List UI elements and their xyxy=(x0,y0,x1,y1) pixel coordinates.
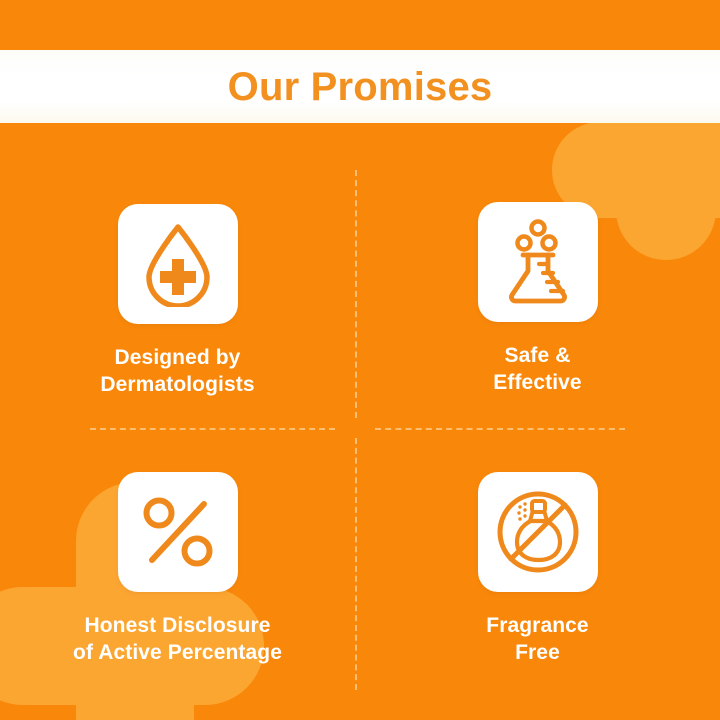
icon-card xyxy=(478,202,598,322)
promise-label: Honest Disclosure of Active Percentage xyxy=(73,612,282,667)
promise-item-safe-and-effective: Safe & Effective xyxy=(355,140,720,428)
icon-card xyxy=(118,204,238,324)
promise-grid: Designed by Dermatologists xyxy=(0,140,720,710)
title-band: Our Promises xyxy=(0,50,720,123)
no-fragrance-bottle-icon xyxy=(496,490,580,574)
flask-icon xyxy=(501,219,575,305)
promise-label: Fragrance Free xyxy=(486,612,588,667)
page-title: Our Promises xyxy=(228,67,493,107)
icon-card xyxy=(478,472,598,592)
promise-item-honest-disclosure: Honest Disclosure of Active Percentage xyxy=(0,428,355,710)
promise-item-fragrance-free: Fragrance Free xyxy=(355,428,720,710)
promise-item-designed-by-dermatologists: Designed by Dermatologists xyxy=(0,140,355,428)
promise-label: Safe & Effective xyxy=(493,342,581,397)
our-promises-poster: Our Promises Designed by Dermatologists xyxy=(0,0,720,720)
percent-icon xyxy=(140,494,216,570)
promise-label: Designed by Dermatologists xyxy=(100,344,254,399)
icon-card xyxy=(118,472,238,592)
droplet-cross-icon xyxy=(139,221,217,307)
